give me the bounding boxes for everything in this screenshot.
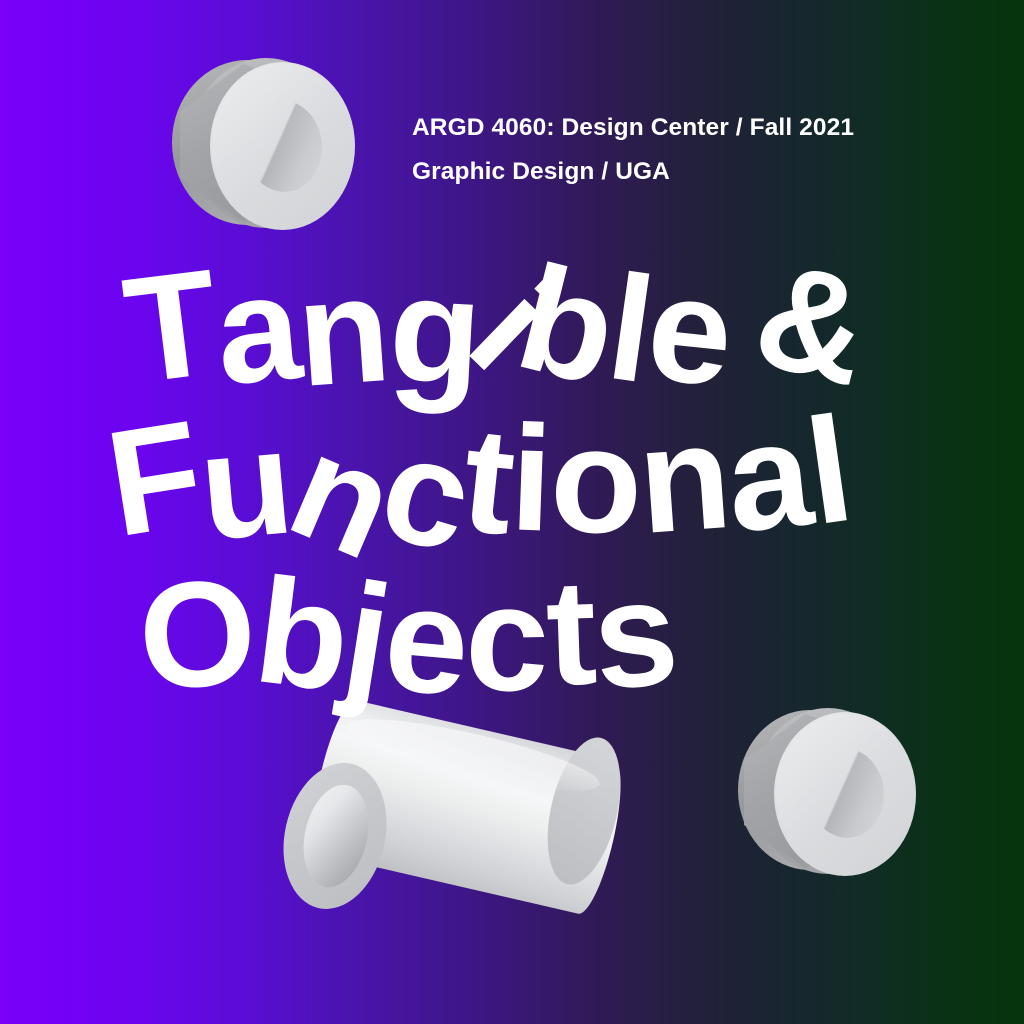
headline-letter: t bbox=[455, 392, 521, 569]
meta-line-course: ARGD 4060: Design Center / Fall 2021 bbox=[412, 106, 854, 150]
headline-letter: b bbox=[503, 230, 632, 420]
headline-letter: t bbox=[543, 545, 597, 720]
headline-letter: l bbox=[598, 240, 661, 417]
headline-letter: O bbox=[135, 545, 259, 724]
headline-letter: i bbox=[438, 249, 587, 401]
headline-letter: s bbox=[586, 545, 682, 724]
headline-letter: i bbox=[508, 391, 554, 565]
ring-br-rim-highlight bbox=[776, 714, 914, 872]
headline-letter: F bbox=[96, 386, 212, 571]
headline-letter: o bbox=[548, 392, 644, 568]
course-meta-block: ARGD 4060: Design Center / Fall 2021 Gra… bbox=[412, 106, 854, 194]
ring-bottom-right-object bbox=[738, 708, 922, 880]
poster-canvas: ARGD 4060: Design Center / Fall 2021 Gra… bbox=[0, 0, 1024, 1024]
headline-letter: n bbox=[633, 389, 734, 568]
headline-letter: j bbox=[334, 548, 400, 725]
headline-letter: a bbox=[209, 240, 305, 419]
headline-letter: & bbox=[740, 226, 885, 420]
headline-letter: c bbox=[463, 551, 550, 727]
headline-line-3: Objects bbox=[140, 546, 676, 719]
headline-letter: u bbox=[193, 394, 297, 574]
tube-center-bottom-object bbox=[283, 718, 628, 933]
headline-letter: T bbox=[116, 235, 226, 418]
ring-rim-highlight bbox=[212, 64, 352, 226]
headline-letter: n bbox=[292, 242, 393, 421]
headline-line-2: Functional bbox=[112, 392, 850, 565]
headline-letter: c bbox=[365, 399, 486, 587]
ring-top-left-object bbox=[172, 58, 362, 233]
headline-letter bbox=[729, 236, 755, 409]
meta-line-program: Graphic Design / UGA bbox=[412, 150, 854, 194]
headline-letter: b bbox=[247, 543, 357, 726]
headline-letter: e bbox=[640, 240, 739, 421]
headline-letter: n bbox=[268, 399, 418, 593]
headline-letter: a bbox=[719, 386, 818, 567]
headline-line-1: Tangible & bbox=[128, 236, 861, 409]
headline-letter: e bbox=[378, 551, 474, 730]
headline-letter: l bbox=[796, 382, 859, 559]
headline-letter: g bbox=[385, 242, 484, 419]
